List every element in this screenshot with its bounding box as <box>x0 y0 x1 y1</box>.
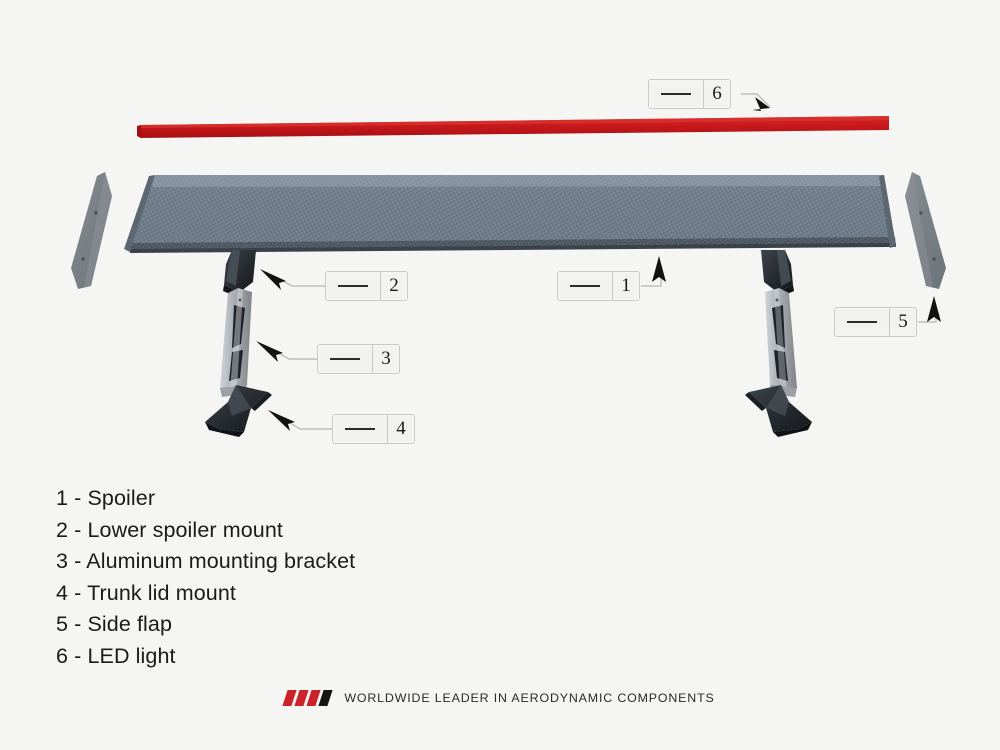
callout-5[interactable]: 5 <box>834 307 917 337</box>
part-trunk-lid-mount-right <box>745 385 812 437</box>
callout-dash-icon <box>345 428 375 430</box>
callout-number: 2 <box>381 272 407 300</box>
callout-dash-cell <box>835 308 890 336</box>
callout-6[interactable]: 6 <box>648 79 731 109</box>
callout-1[interactable]: 1 <box>557 271 640 301</box>
legend-item-5: 5 - Side flap <box>56 609 576 641</box>
callout-dash-cell <box>318 345 373 373</box>
callout-dash-icon <box>338 285 368 287</box>
arrow-3 <box>256 341 283 362</box>
callout-dash-icon <box>570 285 600 287</box>
leader-arrowheads <box>256 97 941 431</box>
callout-dash-cell <box>333 415 388 443</box>
callout-dash-cell <box>326 272 381 300</box>
legend-item-4: 4 - Trunk lid mount <box>56 578 576 610</box>
arrow-4 <box>268 410 295 431</box>
callout-dash-cell <box>558 272 613 300</box>
leader-line-3 <box>273 350 317 359</box>
part-main-wing <box>124 175 896 253</box>
legend-item-6: 6 - LED light <box>56 641 576 673</box>
arrow-1 <box>652 256 666 282</box>
callout-number: 6 <box>704 80 730 108</box>
callout-4[interactable]: 4 <box>332 414 415 444</box>
callout-dash-icon <box>847 321 877 323</box>
legend-item-1: 1 - Spoiler <box>56 483 576 515</box>
arrow-2 <box>260 269 286 290</box>
callout-number: 3 <box>373 345 399 373</box>
part-trunk-lid-mount-left <box>205 385 272 437</box>
callout-number: 1 <box>613 272 639 300</box>
callout-2[interactable]: 2 <box>325 271 408 301</box>
callout-dash-icon <box>661 93 691 95</box>
leader-lines <box>273 94 936 429</box>
part-side-flap-left <box>71 172 112 289</box>
arrow-5 <box>927 296 941 322</box>
callout-number: 4 <box>388 415 414 443</box>
callout-dash-icon <box>330 358 360 360</box>
brand-logo-icon <box>285 690 333 706</box>
part-aluminum-bracket-right <box>765 288 797 397</box>
part-side-flap-right <box>905 172 946 289</box>
diagram-canvas: 6 2 1 5 3 4 1 - Spoiler 2 - Lower spoile… <box>0 0 1000 750</box>
callout-dash-cell <box>649 80 704 108</box>
part-led-strip <box>137 116 889 138</box>
part-aluminum-bracket-left <box>220 288 252 397</box>
footer-tagline: WORLDWIDE LEADER IN AERODYNAMIC COMPONEN… <box>344 691 714 705</box>
legend-item-2: 2 - Lower spoiler mount <box>56 515 576 547</box>
parts-legend: 1 - Spoiler 2 - Lower spoiler mount 3 - … <box>56 483 576 672</box>
footer: WORLDWIDE LEADER IN AERODYNAMIC COMPONEN… <box>0 690 1000 706</box>
callout-3[interactable]: 3 <box>317 344 400 374</box>
callout-number: 5 <box>890 308 916 336</box>
legend-item-3: 3 - Aluminum mounting bracket <box>56 546 576 578</box>
logo-bar-black <box>319 690 333 706</box>
